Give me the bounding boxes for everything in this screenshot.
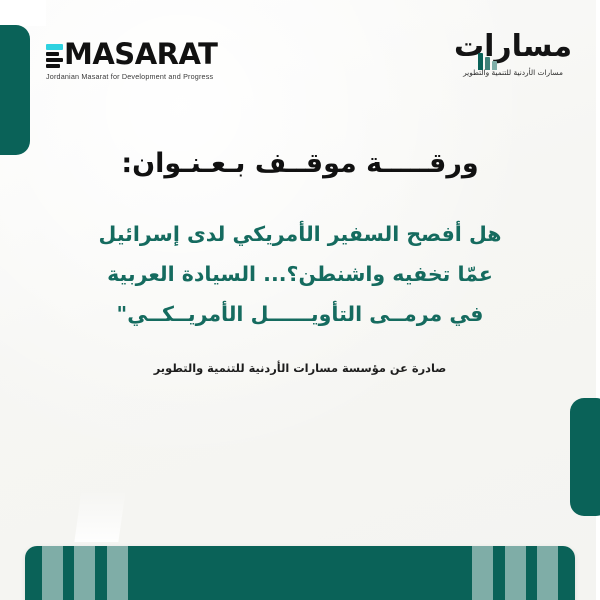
logo-masarat-arabic: مسارات مسارات الأردنية للتنمية والتطوير: [448, 28, 578, 77]
bottom-banner: [25, 546, 575, 600]
banner-stripe-left-2: [74, 546, 95, 600]
decorative-bar-right: [570, 398, 600, 516]
decorative-bar-left: [0, 25, 30, 155]
page-headline: ورقـــــة موقــف بـعـنـوان:: [60, 146, 540, 181]
logo-masarat-english: MASARAT Jordanian Masarat for Developmen…: [46, 40, 236, 81]
logo-bars-icon: [46, 44, 63, 69]
issuer-line: صادرة عن مؤسسة مسارات الأردنية للتنمية و…: [60, 361, 540, 375]
logo-wordmark-english: MASARAT: [64, 40, 217, 69]
banner-stripe-left-1: [42, 546, 63, 600]
title-line-2: عمّا تخفيه واشنطن؟... السيادة العربية: [60, 255, 540, 295]
logo-teeth-icon: [478, 53, 497, 70]
logo-wordmark-arabic: مسارات: [454, 28, 572, 66]
logo-mark-left: MASARAT: [46, 40, 236, 69]
banner-stripe-left-3: [107, 546, 128, 600]
title-line-3: في مرمــى التأويــــــل الأمريــكــي": [60, 295, 540, 335]
poster-canvas: MASARAT Jordanian Masarat for Developmen…: [0, 0, 600, 600]
main-content: ورقـــــة موقــف بـعـنـوان: هل أفصح السف…: [60, 146, 540, 375]
banner-stripe-right-3: [537, 546, 558, 600]
banner-stripe-right-1: [472, 546, 493, 600]
logo-tagline-english: Jordanian Masarat for Development and Pr…: [46, 72, 236, 81]
banner-stripe-right-2: [505, 546, 526, 600]
paper-title: هل أفصح السفير الأمريكي لدى إسرائيل عمّا…: [60, 215, 540, 335]
title-line-1: هل أفصح السفير الأمريكي لدى إسرائيل: [60, 215, 540, 255]
light-streak: [74, 490, 125, 542]
logo-tagline-arabic: مسارات الأردنية للتنمية والتطوير: [448, 68, 578, 77]
edge-strip-top-left: [0, 0, 46, 26]
